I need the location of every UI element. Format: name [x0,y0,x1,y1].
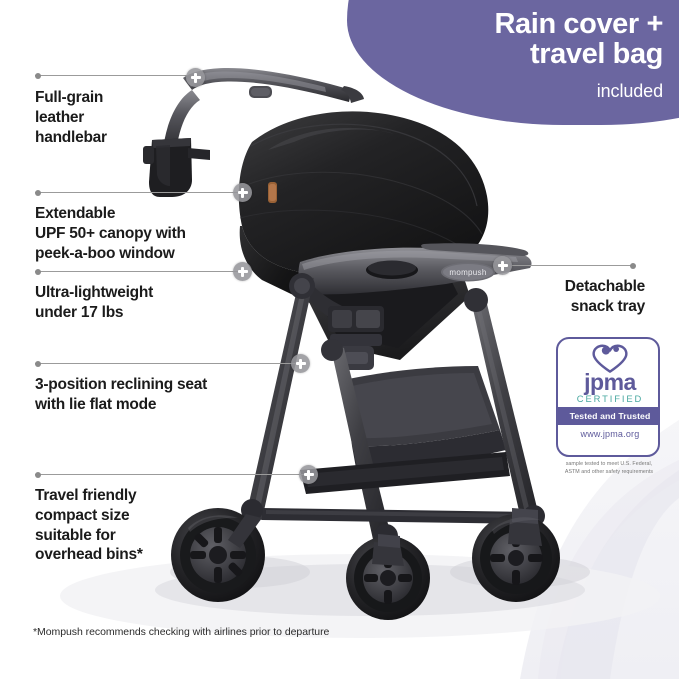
jpma-wordmark: jpma [558,371,660,394]
callout-dot [35,269,41,275]
jpma-certified-badge: jpma CERTIFIED Tested and Trusted www.jp… [556,337,670,485]
callout-label-recline: 3-position reclining seat with lie flat … [35,375,245,415]
callout-dot [35,361,41,367]
jpma-fineprint: sample tested to meet U.S. Federal, ASTM… [552,461,666,476]
banner-line-3: included [353,82,663,100]
jpma-certified-text: CERTIFIED [558,393,660,404]
callout-label-handlebar: Full-grain leather handlebar [35,88,185,147]
callout-line [35,363,297,364]
callout-label-snack-tray: Detachable snack tray [487,277,645,317]
callout-dot [630,263,636,269]
callout-line [35,271,239,272]
footnote-disclaimer: *Mompush recommends checking with airlin… [33,626,329,638]
banner-text-group: Rain cover + travel bag included [353,10,663,100]
banner-line-2: travel bag [353,40,663,70]
callout-line [35,474,305,475]
plus-marker-recline[interactable] [291,354,310,373]
callout-line [512,265,633,266]
jpma-trust-text: Tested and Trusted [558,407,660,425]
callout-dot [35,73,41,79]
infographic-canvas: mompush [0,0,679,679]
callout-label-weight: Ultra-lightweight under 17 lbs [35,283,230,323]
callout-label-canopy: Extendable UPF 50+ canopy with peek-a-bo… [35,204,235,263]
jpma-trust-band: Tested and Trusted [558,407,660,425]
plus-marker-snack-tray[interactable] [493,256,512,275]
callout-dot [35,472,41,478]
svg-text:mompush: mompush [449,268,486,277]
plus-marker-canopy[interactable] [233,183,252,202]
callout-label-compact: Travel friendly compact size suitable fo… [35,486,195,565]
jpma-url: www.jpma.org [558,429,660,439]
banner-line-1: Rain cover + [353,10,663,40]
callout-line [35,75,187,76]
plus-marker-handlebar[interactable] [186,68,205,87]
jpma-card: jpma CERTIFIED Tested and Trusted www.jp… [556,337,660,457]
plus-marker-compact[interactable] [299,465,318,484]
callout-dot [35,190,41,196]
callout-line [35,192,239,193]
plus-marker-weight[interactable] [233,262,252,281]
